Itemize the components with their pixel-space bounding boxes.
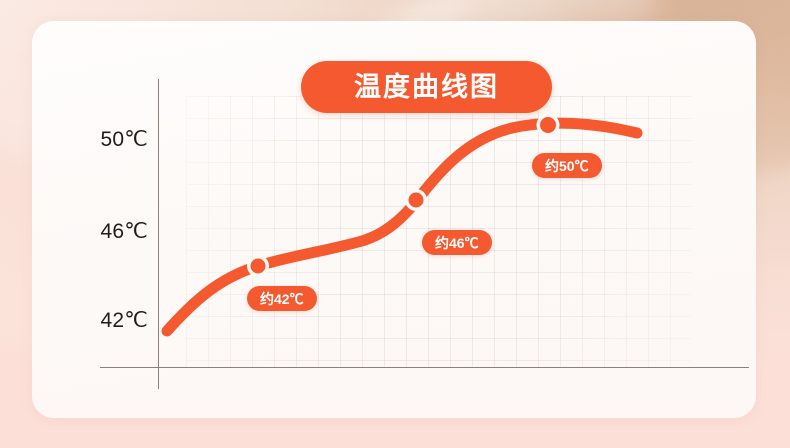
- chart-card: 50℃ 46℃ 42℃ 温度曲线图 约42℃: [32, 21, 756, 418]
- value-badge-46: 约46℃: [422, 230, 492, 255]
- value-badge-50: 约50℃: [532, 153, 602, 178]
- temperature-curve: [32, 21, 756, 418]
- marker-dot-3: [540, 117, 556, 133]
- screenshot-root: 50℃ 46℃ 42℃ 温度曲线图 约42℃: [0, 0, 790, 448]
- value-badge-50-label: 约50℃: [545, 159, 589, 173]
- marker-dot-2: [409, 193, 424, 208]
- value-badge-42-label: 约42℃: [260, 292, 304, 306]
- value-badge-46-label: 约46℃: [435, 236, 479, 250]
- marker-dot-1: [251, 259, 266, 274]
- value-badge-42: 约42℃: [247, 286, 317, 311]
